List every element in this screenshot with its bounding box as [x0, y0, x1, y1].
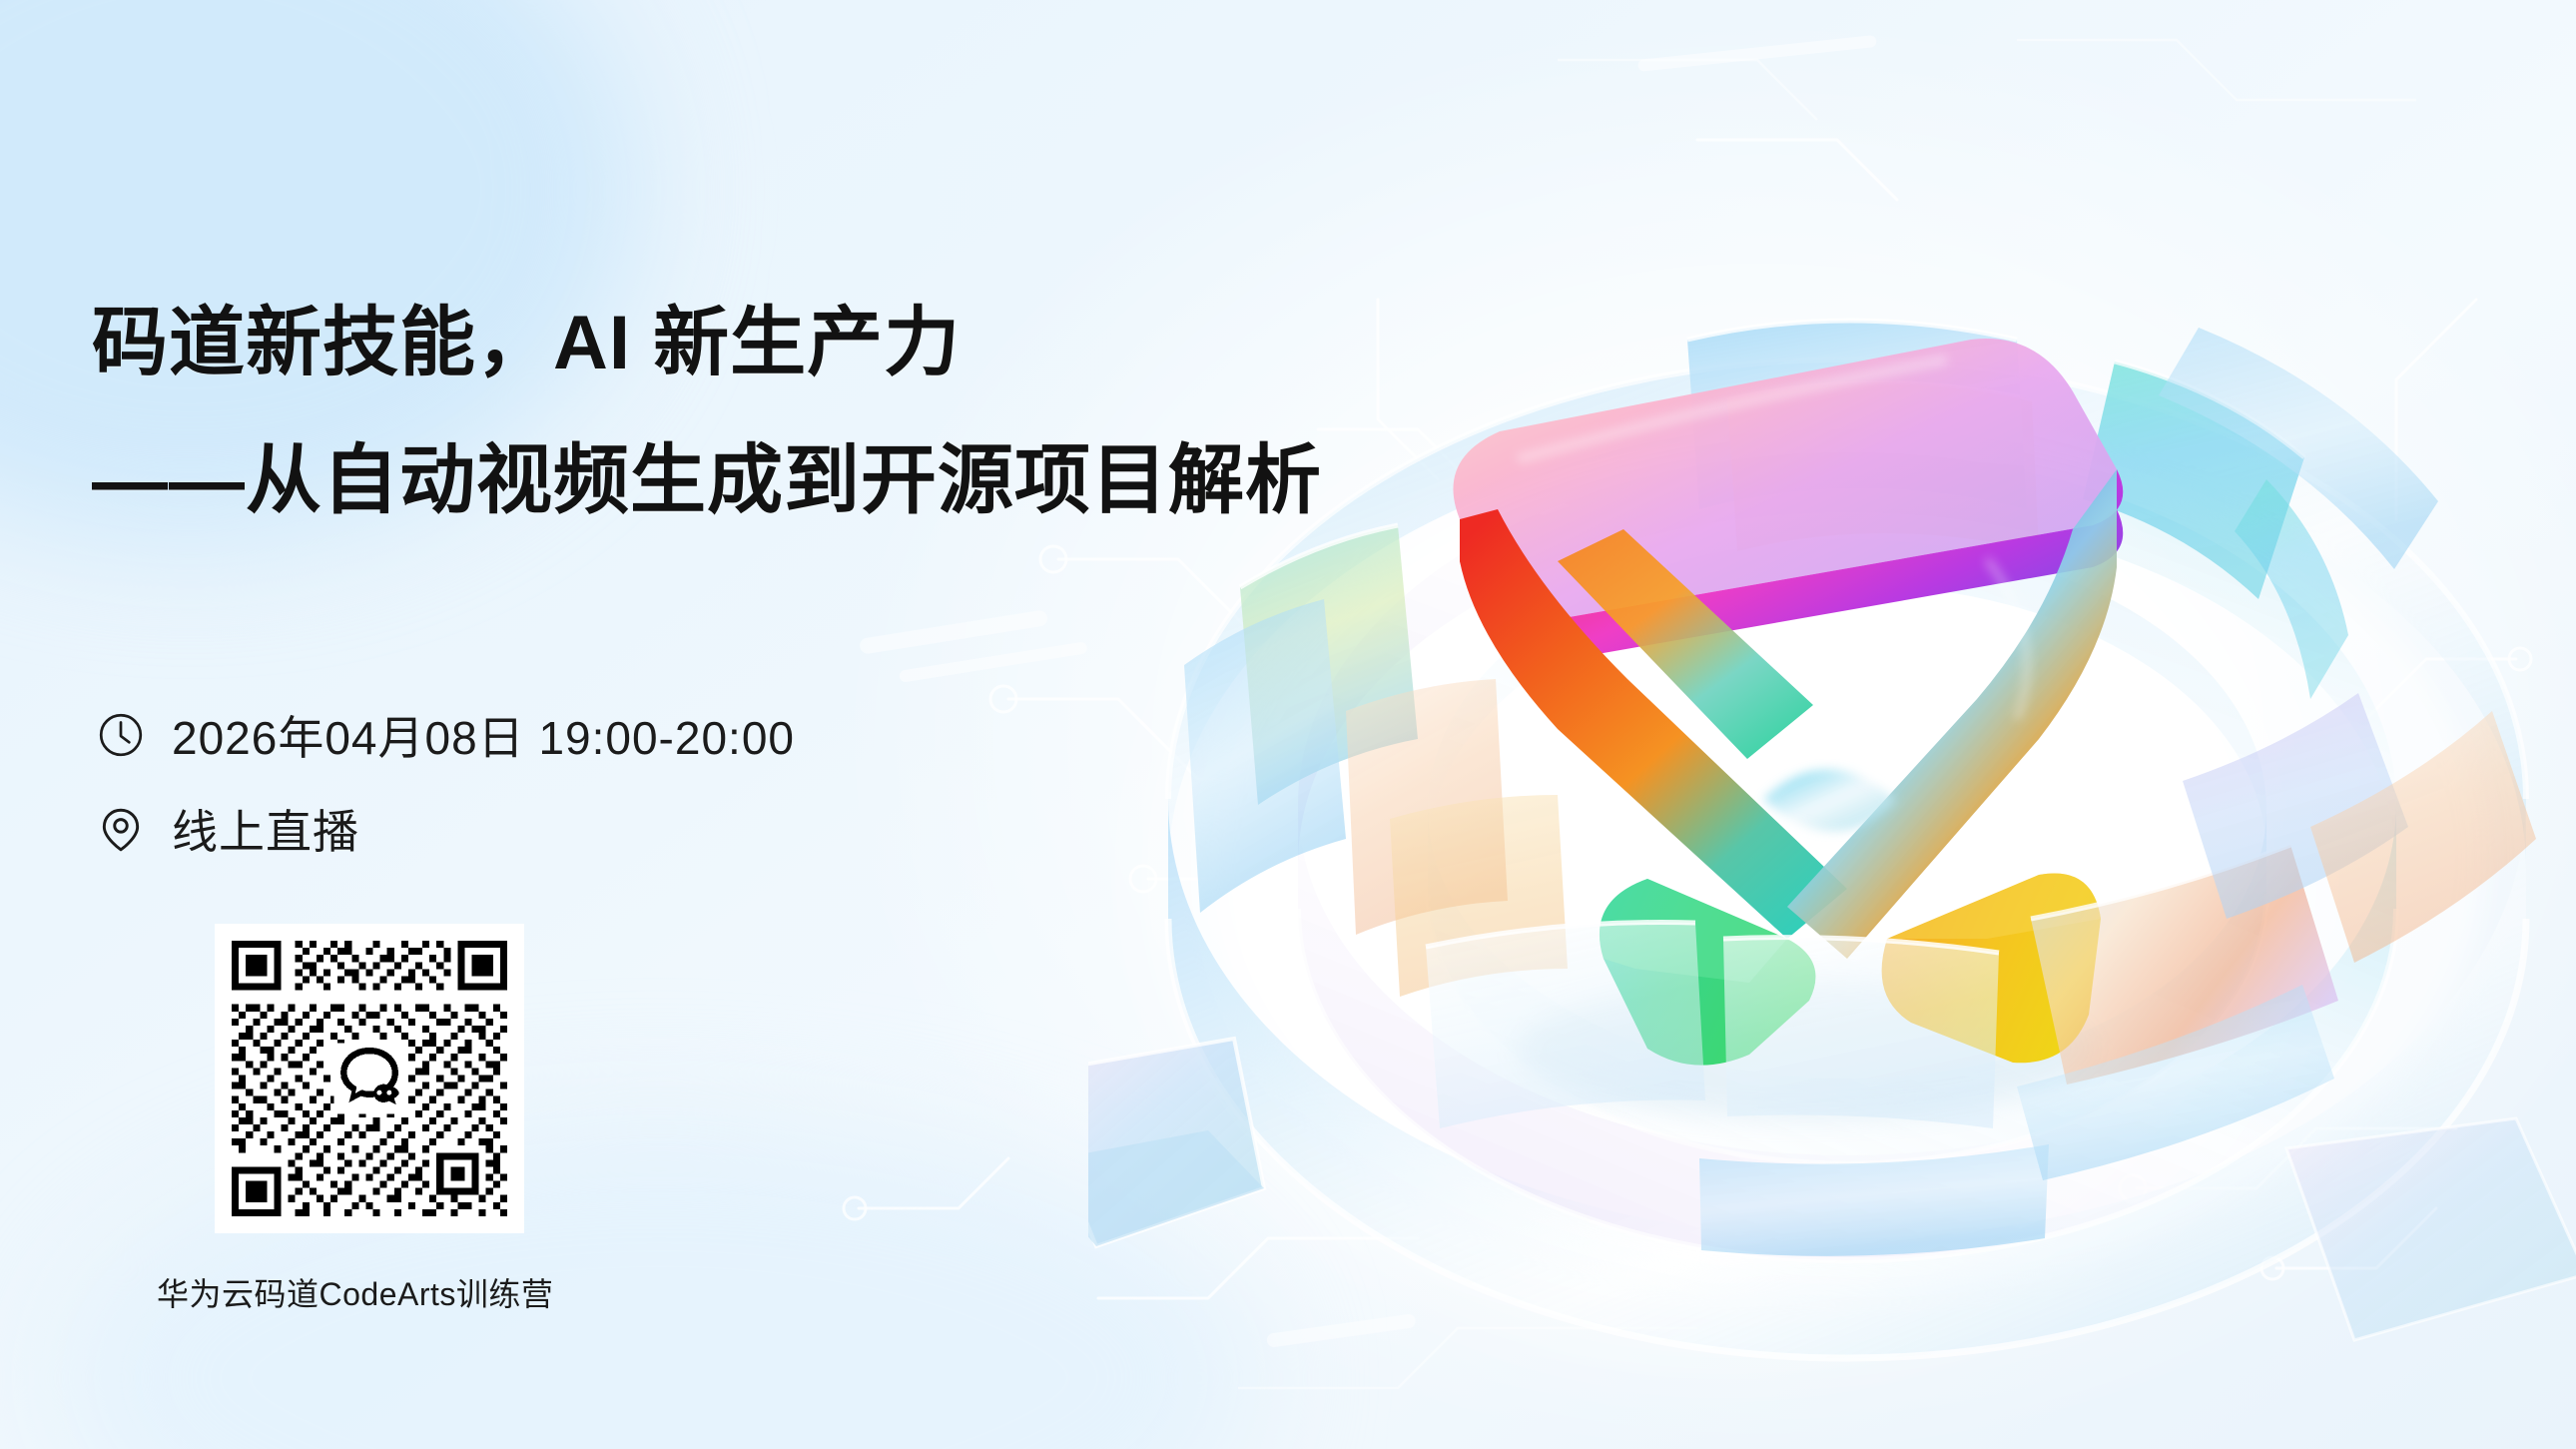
qr-code-matrix [225, 934, 514, 1223]
qr-block: 华为云码道CodeArts训练营 [215, 924, 534, 1315]
event-meta: 2026年04月08日 19:00-20:00 线上直播 [96, 699, 795, 865]
qr-caption: 华为云码道CodeArts训练营 [157, 1269, 466, 1315]
clock-icon [96, 710, 146, 760]
map-pin-icon [96, 804, 146, 854]
codearts-3d-ribbon-graphic [1088, 40, 2576, 1438]
event-location-text: 线上直播 [172, 796, 359, 862]
title-line-1: 码道新技能，AI 新生产力 [92, 296, 1270, 391]
event-datetime-text: 2026年04月08日 19:00-20:00 [172, 702, 795, 768]
poster-content: 码道新技能，AI 新生产力 ——从自动视频生成到开源项目解析 2026年04月0… [0, 0, 1298, 1449]
event-location-row: 线上直播 [96, 793, 795, 865]
title-line-2: ——从自动视频生成到开源项目解析 [92, 433, 1270, 529]
page-title: 码道新技能，AI 新生产力 ——从自动视频生成到开源项目解析 [92, 296, 1270, 529]
event-datetime-row: 2026年04月08日 19:00-20:00 [96, 699, 795, 771]
qr-code[interactable] [215, 924, 524, 1233]
glass-plate-right [2286, 1118, 2576, 1340]
poster-canvas: 码道新技能，AI 新生产力 ——从自动视频生成到开源项目解析 2026年04月0… [0, 0, 2576, 1449]
